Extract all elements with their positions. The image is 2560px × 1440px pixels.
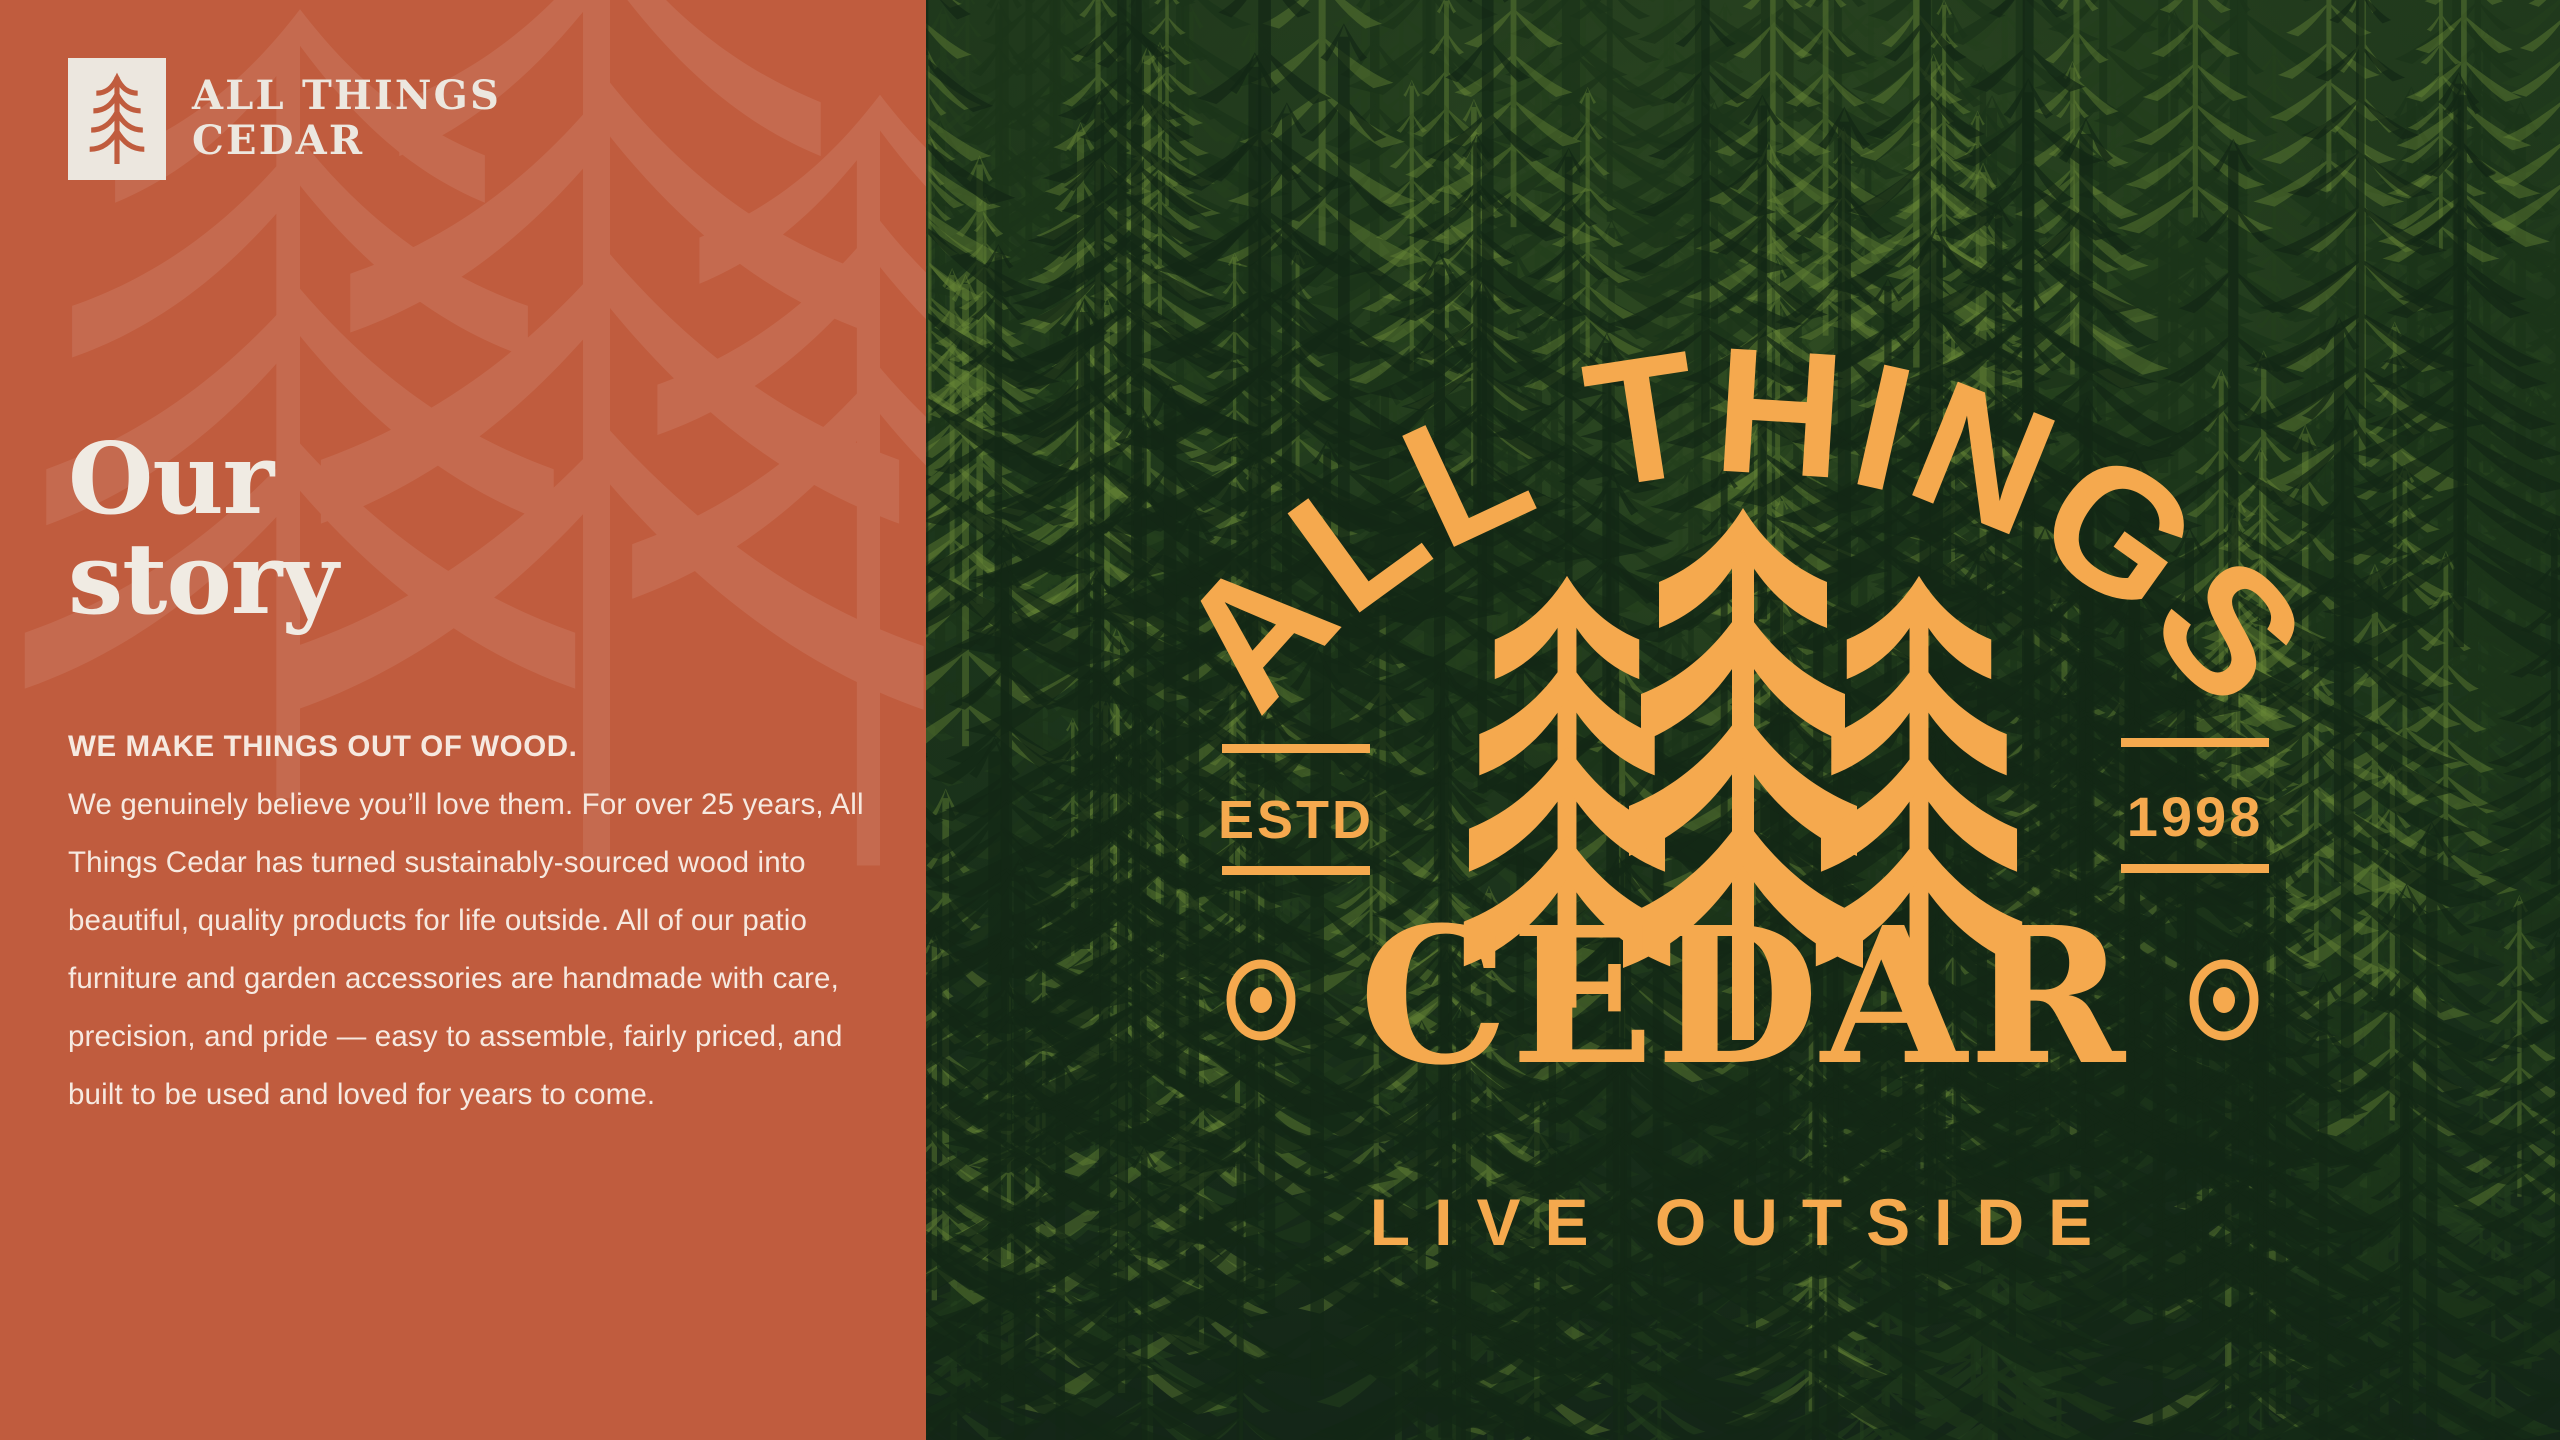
promo-banner: ALL THINGS CEDAR Our story WE MAKE THING… bbox=[0, 0, 2560, 1440]
page-title-line-1: Our bbox=[68, 430, 337, 530]
established-label: ESTD bbox=[1218, 790, 1374, 850]
established-label-group: ESTD bbox=[1218, 744, 1374, 875]
concentric-ring-ornament-right bbox=[2194, 964, 2254, 1036]
badge-tagline: LIVE OUTSIDE bbox=[1370, 1185, 2116, 1259]
story-lede: WE MAKE THINGS OUT OF WOOD. bbox=[68, 718, 868, 776]
brand-mark bbox=[68, 58, 166, 180]
brand-wordmark: ALL THINGS CEDAR bbox=[192, 74, 501, 164]
brand-lockup[interactable]: ALL THINGS CEDAR bbox=[68, 58, 501, 180]
pine-tree-icon bbox=[86, 71, 148, 167]
left-content-panel: ALL THINGS CEDAR Our story WE MAKE THING… bbox=[0, 0, 926, 1440]
concentric-ring-ornament-left bbox=[1231, 964, 1291, 1036]
cedar-badge: ALL THINGS bbox=[926, 0, 2560, 1440]
story-paragraph: We genuinely believe you’ll love them. F… bbox=[68, 776, 868, 1124]
page-title-line-2: story bbox=[68, 530, 337, 630]
forest-image-panel: ALL THINGS bbox=[926, 0, 2560, 1440]
established-year: 1998 bbox=[2127, 785, 2264, 848]
brand-line-2: CEDAR bbox=[192, 119, 501, 164]
story-body: WE MAKE THINGS OUT OF WOOD. We genuinely… bbox=[68, 718, 868, 1124]
brand-line-1: ALL THINGS bbox=[192, 74, 501, 119]
page-title: Our story bbox=[68, 430, 337, 630]
badge-wordmark: CEDAR bbox=[1359, 886, 2127, 1107]
established-year-group: 1998 bbox=[2121, 738, 2269, 873]
